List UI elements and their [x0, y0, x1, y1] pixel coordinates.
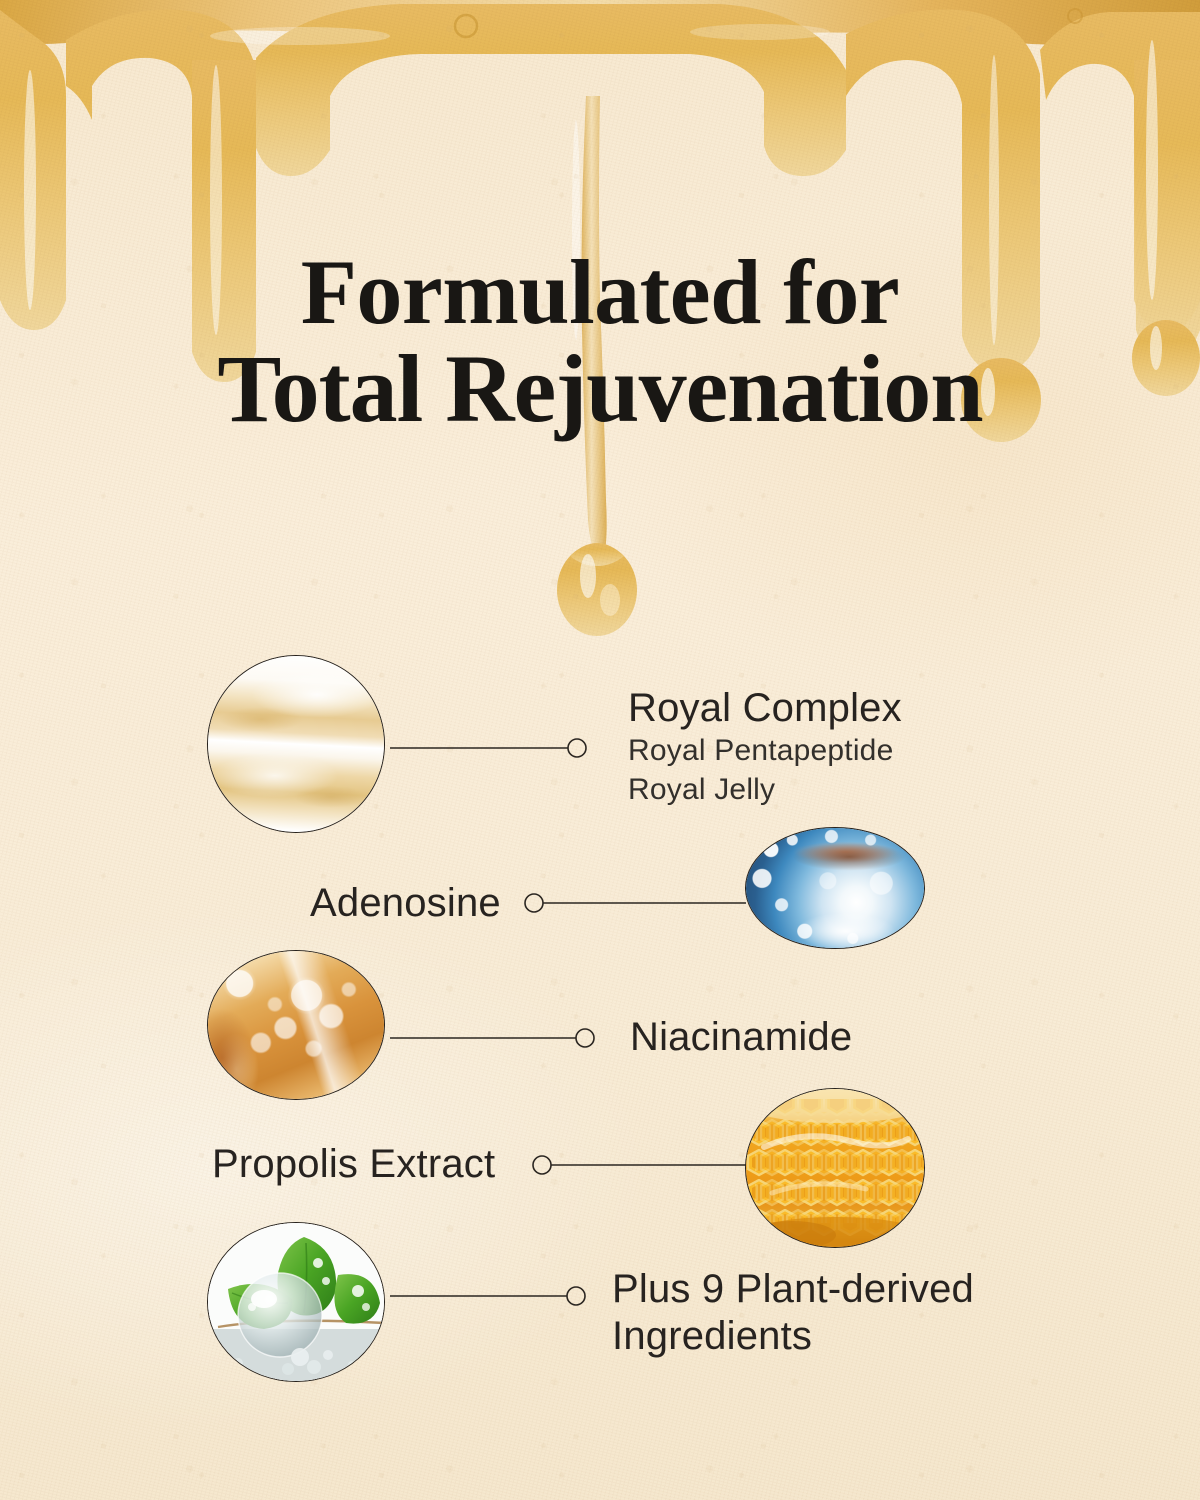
ingredient-label-niacinamide: Niacinamide [630, 1015, 852, 1060]
connector-adenosine [524, 888, 752, 918]
connector-royal-complex [390, 733, 595, 763]
headline-line-1: Formulated for [301, 241, 900, 343]
connector-niacinamide [390, 1023, 605, 1053]
ingredient-subitem-0: Royal Pentapeptide [628, 731, 902, 770]
headline-line-2: Total Rejuvenation [0, 340, 1200, 438]
ingredient-label-propolis-extract: Propolis Extract [212, 1142, 495, 1187]
connector-plant-derived [390, 1281, 600, 1311]
ingredient-label-plant-derived: Plus 9 Plant-derived Ingredients [612, 1266, 1032, 1360]
green-leaf-water-drop-photo [207, 1222, 385, 1382]
honeycomb-photo [745, 1088, 925, 1248]
amber-bubble-oil-photo [207, 950, 385, 1100]
ingredient-name: Propolis Extract [212, 1142, 495, 1187]
ingredient-label-royal-complex: Royal Complex Royal Pentapeptide Royal J… [628, 686, 902, 809]
ingredient-name: Royal Complex [628, 686, 902, 731]
ingredient-name: Niacinamide [630, 1015, 852, 1060]
ingredient-label-adenosine: Adenosine [310, 881, 501, 926]
ingredient-infographic: Formulated for Total Rejuvenation Royal … [0, 0, 1200, 1500]
ingredient-subitem-1: Royal Jelly [628, 770, 902, 809]
royal-jelly-cream-swatch-photo [207, 655, 385, 833]
ingredient-name: Adenosine [310, 881, 501, 926]
connector-propolis-extract [532, 1150, 752, 1180]
ingredient-list: Royal Complex Royal Pentapeptide Royal J… [0, 0, 1200, 1500]
page-title: Formulated for Total Rejuvenation [0, 246, 1200, 438]
ingredient-name: Plus 9 Plant-derived Ingredients [612, 1266, 1032, 1360]
blue-bubble-serum-photo [745, 827, 925, 949]
